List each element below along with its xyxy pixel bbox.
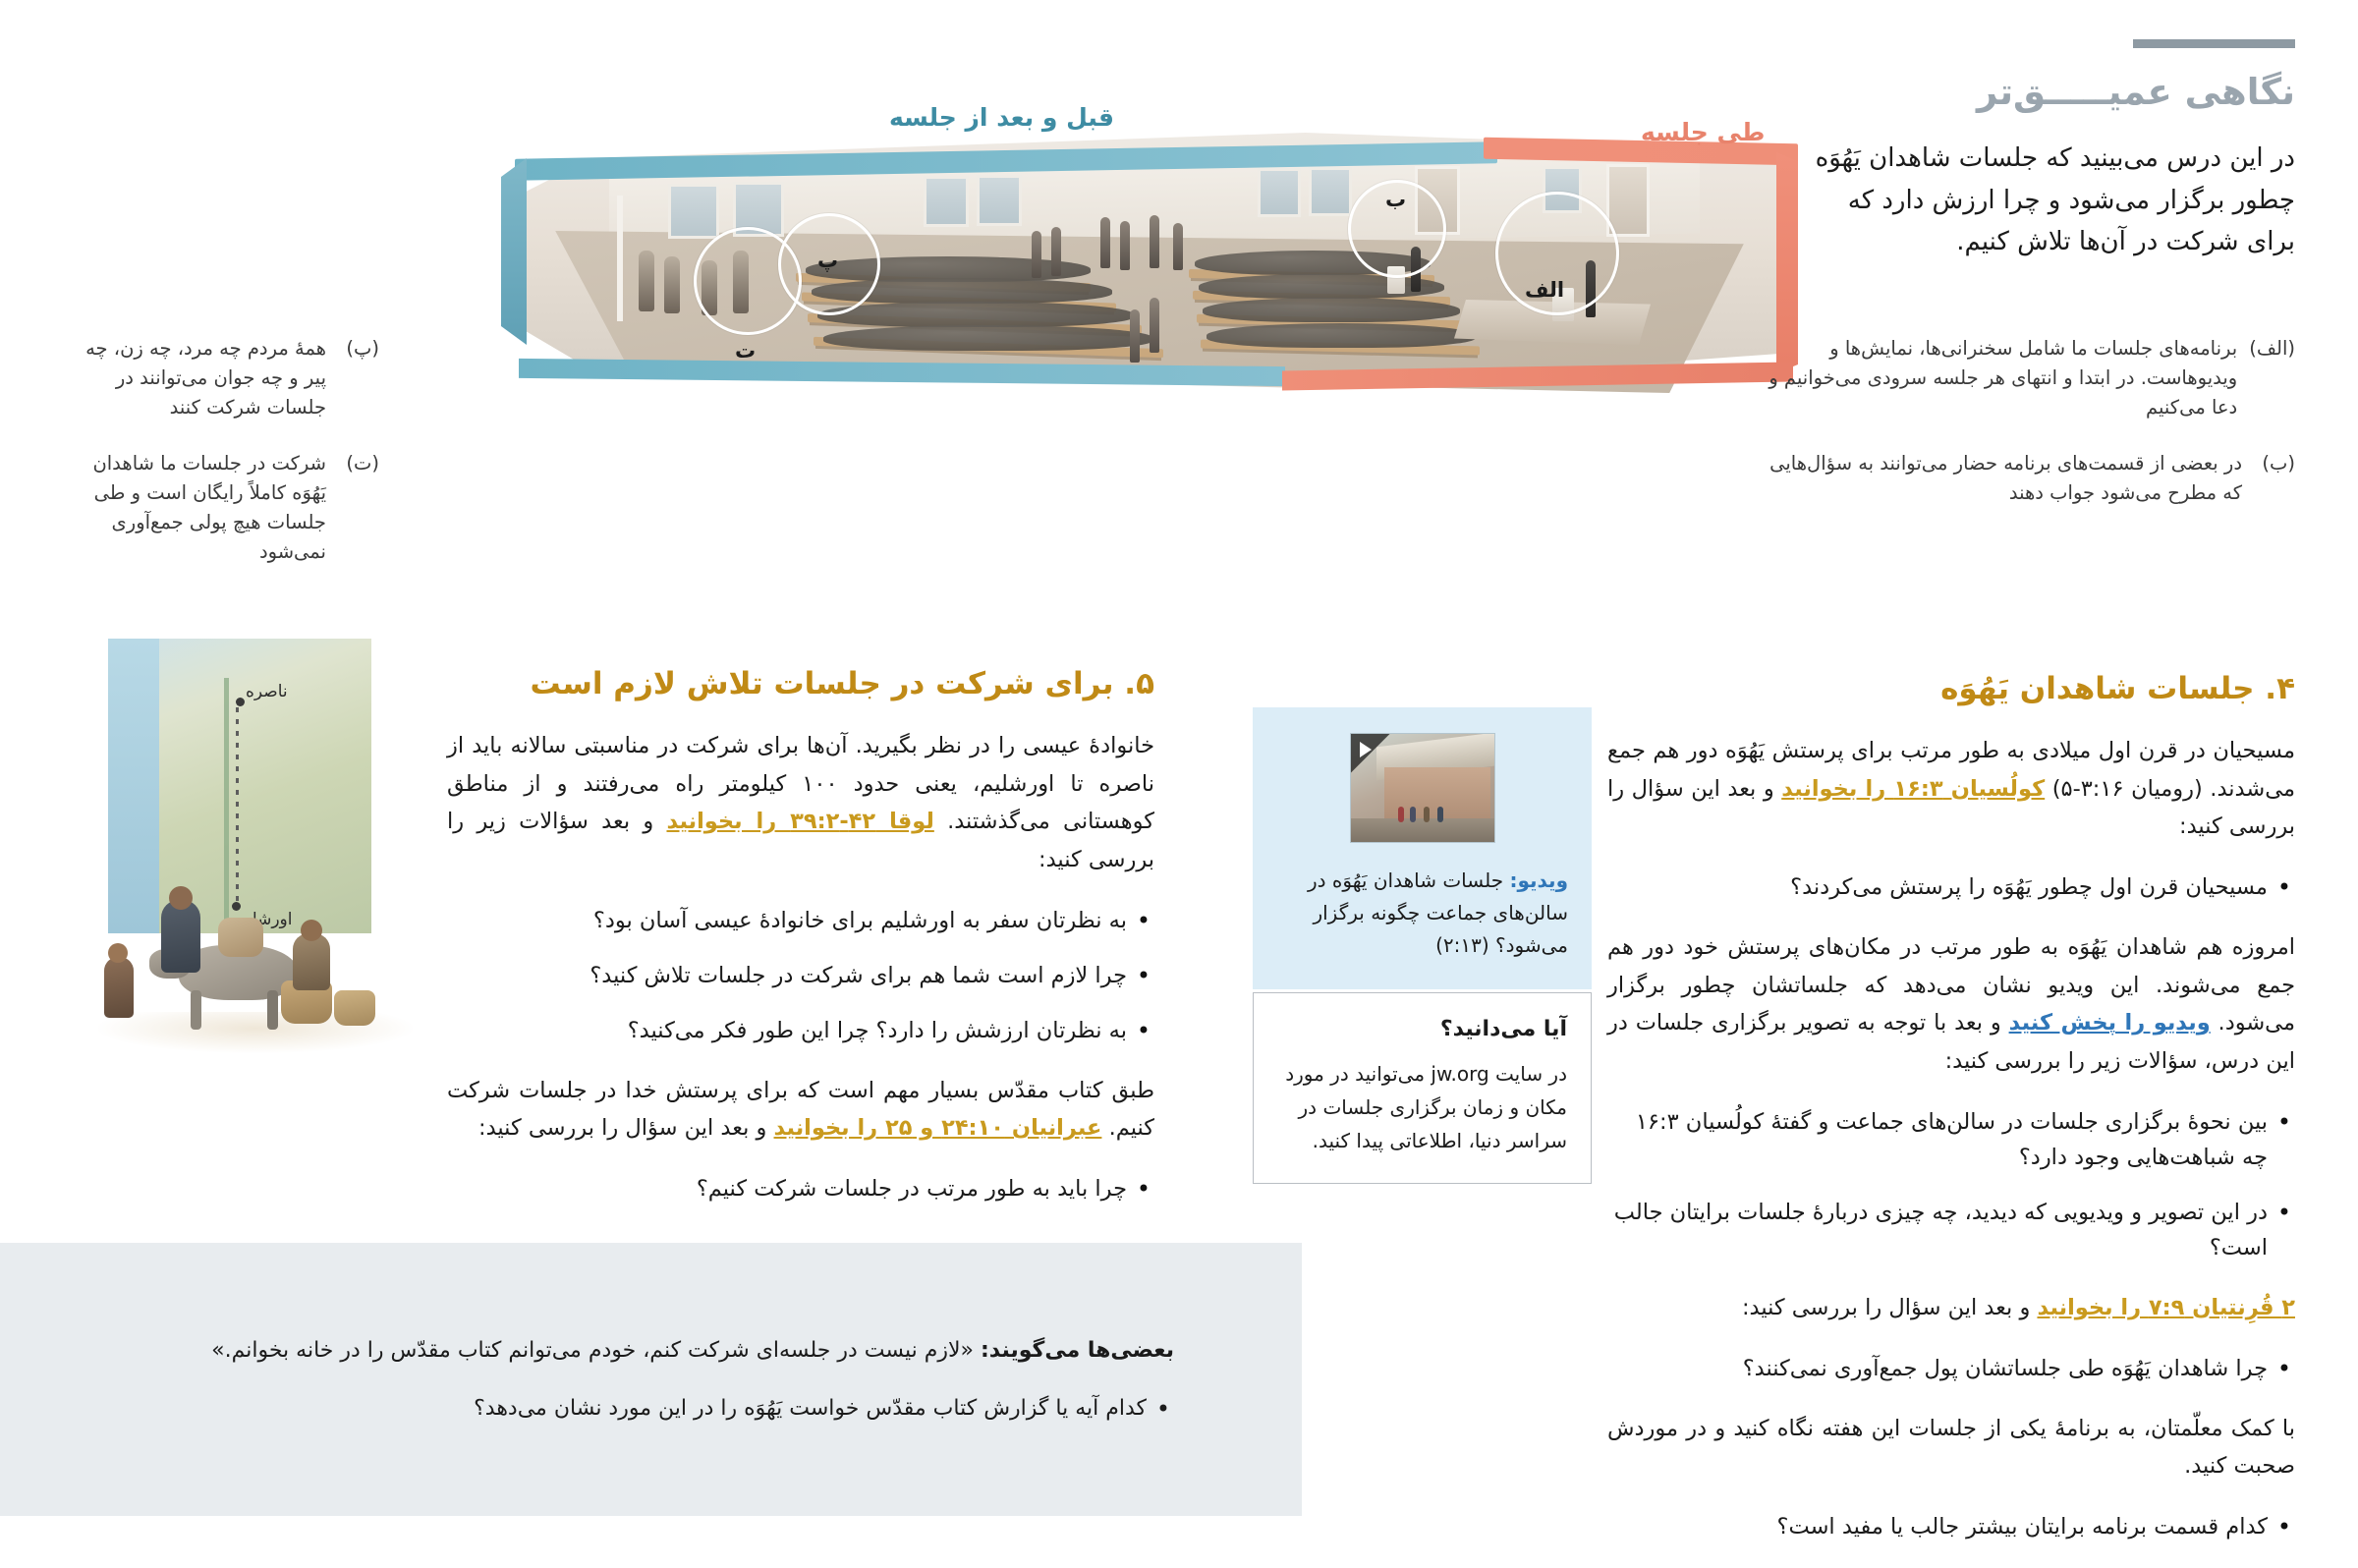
standing-person	[1120, 221, 1130, 270]
standing-person	[1100, 217, 1110, 268]
video-label: ویدیو:	[1509, 868, 1568, 892]
video-play-link[interactable]: ویدیو را پخش کنید	[2009, 1010, 2211, 1036]
standing-person	[1173, 223, 1183, 270]
hall-floorplan	[501, 133, 1798, 378]
section-5-questions-1: به نظرتان سفر به اورشلیم برای خانوادهٔ ع…	[447, 903, 1154, 1048]
deeper-look-rule	[2133, 39, 2295, 48]
section-4: ۴. جلسات شاهدان یَهُوَه مسیحیان در قرن ا…	[1607, 644, 2295, 1568]
deeper-look-section: نگاهی عمیـــــق‌تر در این درس می‌بینید ک…	[1792, 39, 2295, 288]
note-item: (پ) همهٔ مردم چه مرد، چه زن، چه پیر و چه…	[84, 334, 379, 423]
did-you-know-title: آیا می‌دانید؟	[1277, 1017, 1567, 1041]
video-caption: ویدیو: جلسات شاهدان یَهُوَه در سالن‌های …	[1276, 865, 1568, 962]
section-5-paragraph-1: خانوادهٔ عیسی را در نظر بگیرید. آن‌ها بر…	[447, 727, 1154, 879]
map-label-nazareth: ناصره	[246, 682, 288, 701]
bottom-banner: بعضی‌ها می‌گویند: «لازم نیست در جلسه‌ای …	[0, 1243, 1302, 1516]
section-4-questions-4: کدام قسمت برنامه برایتان بیشتر جالب یا م…	[1607, 1509, 2295, 1544]
traveler-man	[161, 900, 200, 973]
notes-left-column: (پ) همهٔ مردم چه مرد، چه زن، چه پیر و چه…	[84, 334, 379, 593]
marker-label-pe: پ	[817, 249, 838, 272]
question-item: در این تصویر و ویدیویی که دیدید، چه چیزی…	[1607, 1195, 2295, 1265]
note-key: (الف)	[2249, 334, 2295, 423]
banner-quote-lead: بعضی‌ها می‌گویند:	[981, 1338, 1174, 1363]
standing-person	[1051, 227, 1061, 276]
video-thumbnail[interactable]	[1350, 733, 1495, 843]
window	[977, 175, 1022, 226]
scripture-link-hebrews[interactable]: عبرانیان ۲۴:۱۰ و ۲۵ را بخوانید	[774, 1115, 1102, 1141]
deeper-look-body: در این درس می‌بینید که جلسات شاهدان یَهُ…	[1792, 138, 2295, 261]
question-item: چرا لازم است شما هم برای شرکت در جلسات ت…	[447, 958, 1154, 993]
note-text: برنامه‌های جلسات ما شامل سخنرانی‌ها، نما…	[1765, 334, 2237, 423]
did-you-know-body: در سایت jw.org می‌توانید در مورد مکان و …	[1277, 1057, 1567, 1157]
standing-person	[1130, 309, 1140, 363]
window	[1258, 168, 1301, 217]
standing-person	[1150, 215, 1159, 268]
section-5-paragraph-2: طبق کتاب مقدّس بسیار مهم است که برای پرس…	[447, 1072, 1154, 1148]
note-item: (ب) در بعضی از قسمت‌های برنامه حضار می‌ت…	[1765, 449, 2295, 508]
audience-group	[1199, 274, 1444, 299]
thumb-person	[1398, 807, 1404, 822]
banner-questions: کدام آیه یا گزارش کتاب مقدّس خواست یَهُو…	[118, 1391, 1174, 1426]
video-callout-box[interactable]: ویدیو: جلسات شاهدان یَهُوَه در سالن‌های …	[1253, 707, 1592, 989]
basket	[334, 990, 375, 1026]
teal-left-edge	[501, 158, 527, 345]
note-key: (ت)	[338, 449, 379, 568]
window	[1309, 167, 1352, 216]
kingdom-hall-illustration: ت پ ب الف	[462, 93, 1837, 388]
marker-label-be: ب	[1385, 188, 1406, 211]
thumb-person	[1437, 807, 1443, 822]
label-before-after-meeting: قبل و بعد از جلسه	[889, 103, 1114, 132]
question-item: کدام آیه یا گزارش کتاب مقدّس خواست یَهُو…	[118, 1391, 1174, 1426]
note-text: شرکت در جلسات ما شاهدان یَهُوَه کاملاً ر…	[84, 449, 326, 568]
s5-p2-text-b: و بعد این سؤال را بررسی کنید:	[478, 1115, 774, 1141]
banner-quote: بعضی‌ها می‌گویند: «لازم نیست در جلسه‌ای …	[118, 1333, 1174, 1368]
kneeling-figure	[293, 933, 330, 990]
section-4-questions-3: چرا شاهدان یَهُوَه طی جلساتشان پول جمع‌آ…	[1607, 1351, 2295, 1386]
section-4-paragraph-1: مسیحیان در قرن اول میلادی به طور مرتب بر…	[1607, 732, 2295, 846]
note-text: همهٔ مردم چه مرد، چه زن، چه پیر و چه جوا…	[84, 334, 326, 423]
standing-person	[1150, 298, 1159, 353]
thumb-ground	[1351, 818, 1494, 842]
child-figure-head	[108, 943, 128, 963]
note-item: (ت) شرکت در جلسات ما شاهدان یَهُوَه کامل…	[84, 449, 379, 568]
traveler-man-head	[169, 886, 193, 910]
marker-label-te: ت	[735, 339, 756, 363]
deeper-look-title: نگاهی عمیـــــق‌تر	[1792, 73, 2295, 113]
lobby-partition	[617, 196, 623, 321]
section-5-heading: ۵. برای شرکت در جلسات تلاش لازم است	[447, 664, 1154, 703]
audience-group	[823, 325, 1153, 351]
pack-sack	[218, 918, 263, 957]
notes-right-column: (الف) برنامه‌های جلسات ما شامل سخنرانی‌ه…	[1765, 334, 2295, 533]
note-text: در بعضی از قسمت‌های برنامه حضار می‌توانن…	[1765, 449, 2242, 508]
lobby-person	[664, 256, 680, 313]
nazareth-jerusalem-map-illustration: ناصره اورشلیم	[88, 639, 422, 1051]
question-item: کدام قسمت برنامه برایتان بیشتر جالب یا م…	[1607, 1509, 2295, 1544]
banner-quote-text: «لازم نیست در جلسه‌ای شرکت کنم، خودم می‌…	[211, 1338, 981, 1363]
question-item: بین نحوهٔ برگزاری جلسات در سالن‌های جماع…	[1607, 1104, 2295, 1175]
scripture-link-luke[interactable]: لوقا ۴۲-۳۹:۲ را بخوانید	[666, 809, 933, 834]
audience-group	[1207, 323, 1476, 348]
question-item: چرا شاهدان یَهُوَه طی جلساتشان پول جمع‌آ…	[1607, 1351, 2295, 1386]
section-5-questions-2: چرا باید به طور مرتب در جلسات شرکت کنیم؟	[447, 1171, 1154, 1206]
question-item: مسیحیان قرن اول چطور یَهُوَه را پرستش می…	[1607, 869, 2295, 905]
thumb-person	[1424, 807, 1430, 822]
s4-p3-text-b: و بعد این سؤال را بررسی کنید:	[1742, 1295, 2038, 1320]
note-key: (ب)	[2254, 449, 2295, 508]
lobby-person	[639, 251, 654, 311]
thumb-person	[1410, 807, 1416, 822]
section-5: ۵. برای شرکت در جلسات تلاش لازم است خانو…	[447, 639, 1154, 1230]
donkey-leg	[267, 990, 278, 1030]
section-4-heading: ۴. جلسات شاهدان یَهُوَه	[1607, 669, 2295, 708]
window	[668, 184, 719, 239]
audience-group	[1203, 298, 1460, 322]
question-item: چرا باید به طور مرتب در جلسات شرکت کنیم؟	[447, 1171, 1154, 1206]
scripture-link-2corinthians[interactable]: ۲ قُرِنتیان ۷:۹ را بخوانید	[2037, 1295, 2295, 1320]
label-during-meeting: طی جلسه	[1641, 118, 1765, 146]
section-4-paragraph-2: امروزه هم شاهدان یَهُوَه به طور مرتب در …	[1607, 928, 2295, 1081]
audience-group	[817, 302, 1134, 327]
scripture-link-colossians[interactable]: کولُسیان ۱۶:۳ را بخوانید	[1781, 776, 2045, 802]
window	[924, 176, 969, 227]
section-4-paragraph-4: با کمک معلّمتان، به برنامهٔ یکی از جلسات…	[1607, 1410, 2295, 1485]
standing-person	[1032, 231, 1041, 278]
marker-label-alef: الف	[1525, 278, 1564, 302]
did-you-know-box: آیا می‌دانید؟ در سایت jw.org می‌توانید د…	[1253, 992, 1592, 1184]
section-4-questions-2: بین نحوهٔ برگزاری جلسات در سالن‌های جماع…	[1607, 1104, 2295, 1265]
hall-scene	[462, 93, 1837, 388]
kneeling-figure-head	[301, 920, 322, 941]
donkey-travel-scene	[88, 874, 422, 1061]
section-4-questions-1: مسیحیان قرن اول چطور یَهُوَه را پرستش می…	[1607, 869, 2295, 905]
question-item: به نظرتان سفر به اورشلیم برای خانوادهٔ ع…	[447, 903, 1154, 938]
note-key: (پ)	[338, 334, 379, 423]
child-figure	[104, 957, 134, 1018]
question-item: به نظرتان ارزشش را دارد؟ چرا این طور فکر…	[447, 1013, 1154, 1048]
donkey-leg	[191, 990, 201, 1030]
map-dot-nazareth	[236, 698, 245, 706]
note-item: (الف) برنامه‌های جلسات ما شامل سخنرانی‌ه…	[1765, 334, 2295, 423]
section-4-paragraph-3: ۲ قُرِنتیان ۷:۹ را بخوانید و بعد این سؤا…	[1607, 1289, 2295, 1327]
